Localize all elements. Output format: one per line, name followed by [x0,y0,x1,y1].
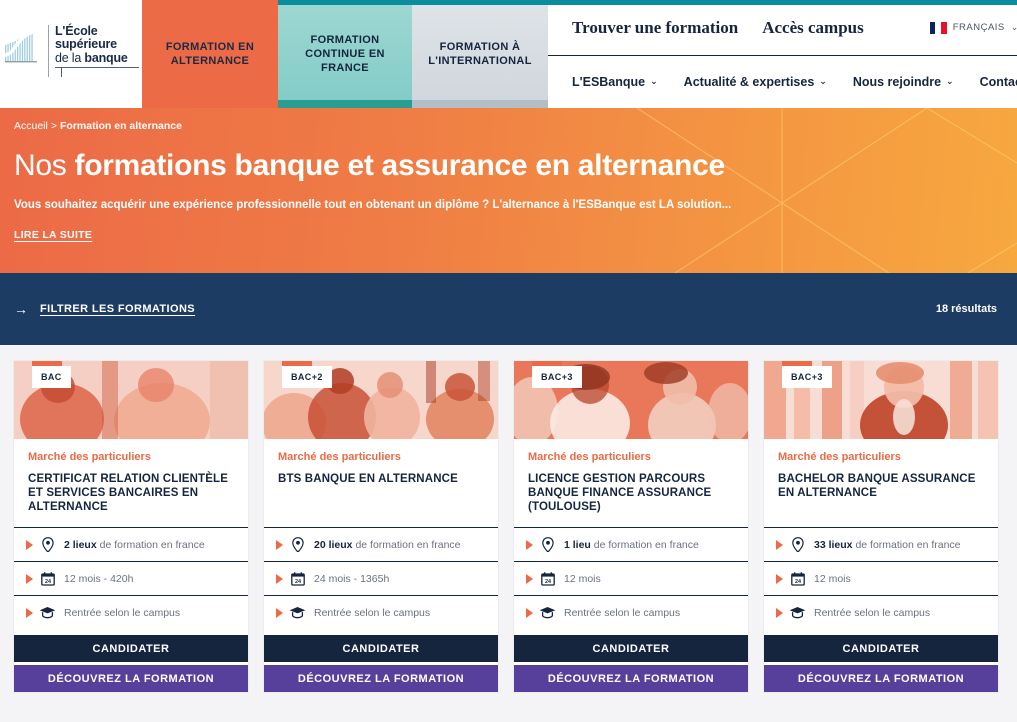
formation-card-grid: BAC Marché des particuliers CERTIFICAT R… [0,345,1017,692]
apply-button[interactable]: CANDIDATER [264,635,498,662]
breadcrumb: Accueil>Formation en alternance [14,120,1017,132]
nav-item-label: L'ESBanque [572,75,645,89]
filter-bar: → FILTRER LES FORMATIONS 18 résultats [0,273,1017,345]
language-selector[interactable]: FRANÇAIS ⌄ [930,22,1017,34]
apply-button[interactable]: CANDIDATER [514,635,748,662]
card-locations-text: 33 lieux de formation en france [814,539,961,551]
card-body: Marché des particuliers LICENCE GESTION … [514,439,748,527]
card-row-intake: Rentrée selon le campus [514,595,748,629]
site-header: L'École supérieure de la banque FORMATIO… [0,0,1017,108]
hero-banner: Accueil>Formation en alternance Nos form… [0,108,1017,273]
card-detail-rows: 20 lieux de formation en france 24 24 mo… [264,527,498,692]
row-marker-icon [276,574,283,584]
site-logo[interactable]: L'École supérieure de la banque [0,0,142,108]
row-marker-icon [526,574,533,584]
discover-button[interactable]: DÉCOUVREZ LA FORMATION [514,665,748,692]
nav-item-nous-rejoindre[interactable]: Nous rejoindre ⌄ [853,75,954,89]
card-row-locations: 1 lieu de formation en france [514,527,748,561]
filter-formations-label: FILTRER LES FORMATIONS [40,303,195,315]
results-count: 18 résultats [936,303,997,315]
card-category: Marché des particuliers [278,451,484,463]
nav-item-label: Actualité & expertises [684,75,815,89]
card-row-locations: 33 lieux de formation en france [764,527,998,561]
arrow-right-icon: → [14,302,28,316]
card-row-intake: Rentrée selon le campus [264,595,498,629]
nav-tile-international[interactable]: FORMATION À L'INTERNATIONAL [412,0,548,108]
card-title: CERTIFICAT RELATION CLIENTÈLE ET SERVICE… [28,472,234,514]
row-marker-icon [26,574,33,584]
discover-button[interactable]: DÉCOUVREZ LA FORMATION [14,665,248,692]
card-intake-text: Rentrée selon le campus [564,607,680,619]
chevron-down-icon: ⌄ [650,76,658,87]
card-category: Marché des particuliers [28,451,234,463]
nav-tile-alternance[interactable]: FORMATION EN ALTERNANCE [142,0,278,108]
card-level-badge: BAC+3 [782,366,832,388]
row-marker-icon [26,608,33,618]
card-row-duration: 24 12 mois [514,561,748,595]
logo-wordmark: L'École supérieure de la banque [48,25,139,77]
nav-item-label: Contactez-nous [980,75,1017,89]
card-duration-text: 12 mois [564,573,601,585]
page-title: Nos formations banque et assurance en al… [14,150,1017,182]
page-title-light: Nos [14,149,75,182]
formation-card[interactable]: BAC Marché des particuliers CERTIFICAT R… [14,361,248,692]
row-marker-icon [776,574,783,584]
row-marker-icon [276,608,283,618]
link-acces-campus[interactable]: Accès campus [762,18,864,38]
apply-button[interactable]: CANDIDATER [14,635,248,662]
location-pin-icon [788,537,807,552]
card-title: BACHELOR BANQUE ASSURANCE EN ALTERNANCE [778,472,984,500]
nav-item-esbanque[interactable]: L'ESBanque ⌄ [572,75,658,89]
card-row-locations: 2 lieux de formation en france [14,527,248,561]
card-locations-count: 2 lieux [64,539,97,551]
card-duration-text: 12 mois [814,573,851,585]
card-row-duration: 24 24 mois - 1365h [264,561,498,595]
card-duration-text: 12 mois - 420h [64,573,133,585]
card-row-intake: Rentrée selon le campus [14,595,248,629]
card-intake-text: Rentrée selon le campus [314,607,430,619]
chevron-down-icon: ⌄ [819,76,827,87]
hero-geometric-pattern [597,108,1017,273]
card-duration-text: 24 mois - 1365h [314,573,389,585]
calendar-icon: 24 [38,572,57,586]
breadcrumb-separator: > [51,120,57,132]
card-title: LICENCE GESTION PARCOURS BANQUE FINANCE … [528,472,734,514]
card-category: Marché des particuliers [528,451,734,463]
chevron-down-icon: ⌄ [946,76,954,87]
calendar-icon: 24 [288,572,307,586]
card-level-badge: BAC+3 [532,366,582,388]
card-row-duration: 24 12 mois [764,561,998,595]
card-locations-count: 20 lieux [314,539,353,551]
graduation-cap-icon [538,606,557,619]
language-label: FRANÇAIS [953,22,1005,33]
svg-text:24: 24 [295,579,301,585]
card-level-badge: BAC+2 [282,366,332,388]
header-top-accent-strip [278,0,1017,5]
card-image: BAC+3 [764,361,998,439]
discover-button[interactable]: DÉCOUVREZ LA FORMATION [264,665,498,692]
card-intake-text: Rentrée selon le campus [64,607,180,619]
card-locations-count: 33 lieux [814,539,853,551]
card-body: Marché des particuliers CERTIFICAT RELAT… [14,439,248,527]
row-marker-icon [276,540,283,550]
row-marker-icon [526,540,533,550]
card-detail-rows: 1 lieu de formation en france 24 12 mois… [514,527,748,692]
card-body: Marché des particuliers BACHELOR BANQUE … [764,439,998,527]
card-intake-text: Rentrée selon le campus [814,607,930,619]
card-locations-text: 20 lieux de formation en france [314,539,461,551]
card-image: BAC+3 [514,361,748,439]
card-image: BAC+2 [264,361,498,439]
apply-button[interactable]: CANDIDATER [764,635,998,662]
formation-card[interactable]: BAC+2 Marché des particuliers BTS BANQUE… [264,361,498,692]
calendar-icon: 24 [538,572,557,586]
card-detail-rows: 2 lieux de formation en france 24 12 moi… [14,527,248,692]
card-image: BAC [14,361,248,439]
card-body: Marché des particuliers BTS BANQUE EN AL… [264,439,498,527]
location-pin-icon [38,537,57,552]
nav-tile-continue[interactable]: FORMATION CONTINUE EN FRANCE [278,0,412,108]
location-pin-icon [538,537,557,552]
read-more-link[interactable]: LIRE LA SUITE [14,229,1017,241]
card-locations-suffix: de formation en france [591,539,699,551]
discover-button[interactable]: DÉCOUVREZ LA FORMATION [764,665,998,692]
svg-text:24: 24 [545,579,551,585]
link-trouver-une-formation[interactable]: Trouver une formation [572,18,738,38]
row-marker-icon [26,540,33,550]
filter-formations-button[interactable]: → FILTRER LES FORMATIONS [14,302,195,316]
chevron-down-icon: ⌄ [1011,22,1017,33]
header-nav-right: Trouver une formation Accès campus FRANÇ… [548,0,1017,108]
card-locations-suffix: de formation en france [853,539,961,551]
graduation-cap-icon [288,606,307,619]
logo-line-3: de la banque [55,52,139,65]
header-main-nav: L'ESBanque ⌄ Actualité & expertises ⌄ No… [548,56,1017,107]
row-marker-icon [776,608,783,618]
fr-flag-icon [930,22,947,34]
calendar-icon: 24 [788,572,807,586]
card-level-badge: BAC [32,366,71,388]
row-marker-icon [776,540,783,550]
formation-card[interactable]: BAC+3 Marché des particuliers BACHELOR B… [764,361,998,692]
breadcrumb-current: Formation en alternance [60,120,182,132]
header-utility-nav: Trouver une formation Accès campus FRANÇ… [548,0,1017,56]
card-detail-rows: 33 lieux de formation en france 24 12 mo… [764,527,998,692]
card-locations-text: 1 lieu de formation en france [564,539,699,551]
card-locations-text: 2 lieux de formation en france [64,539,205,551]
card-row-intake: Rentrée selon le campus [764,595,998,629]
card-category: Marché des particuliers [778,451,984,463]
card-locations-suffix: de formation en france [97,539,205,551]
formation-card[interactable]: BAC+3 Marché des particuliers LICENCE GE… [514,361,748,692]
svg-text:24: 24 [45,579,51,585]
esbanque-logo-icon [3,25,43,67]
card-row-duration: 24 12 mois - 420h [14,561,248,595]
logo-tick [61,68,139,77]
card-locations-count: 1 lieu [564,539,591,551]
location-pin-icon [288,537,307,552]
hero-subtitle: Vous souhaitez acquérir une expérience p… [14,199,1017,211]
card-row-locations: 20 lieux de formation en france [264,527,498,561]
nav-item-actualite-expertises[interactable]: Actualité & expertises ⌄ [684,75,827,89]
breadcrumb-home[interactable]: Accueil [14,120,48,132]
nav-item-contactez-nous[interactable]: Contactez-nous [980,75,1017,89]
card-locations-suffix: de formation en france [353,539,461,551]
card-title: BTS BANQUE EN ALTERNANCE [278,472,484,486]
graduation-cap-icon [38,606,57,619]
nav-item-label: Nous rejoindre [853,75,941,89]
graduation-cap-icon [788,606,807,619]
svg-text:24: 24 [795,579,801,585]
page-title-bold: formations banque et assurance en altern… [75,149,725,182]
row-marker-icon [526,608,533,618]
